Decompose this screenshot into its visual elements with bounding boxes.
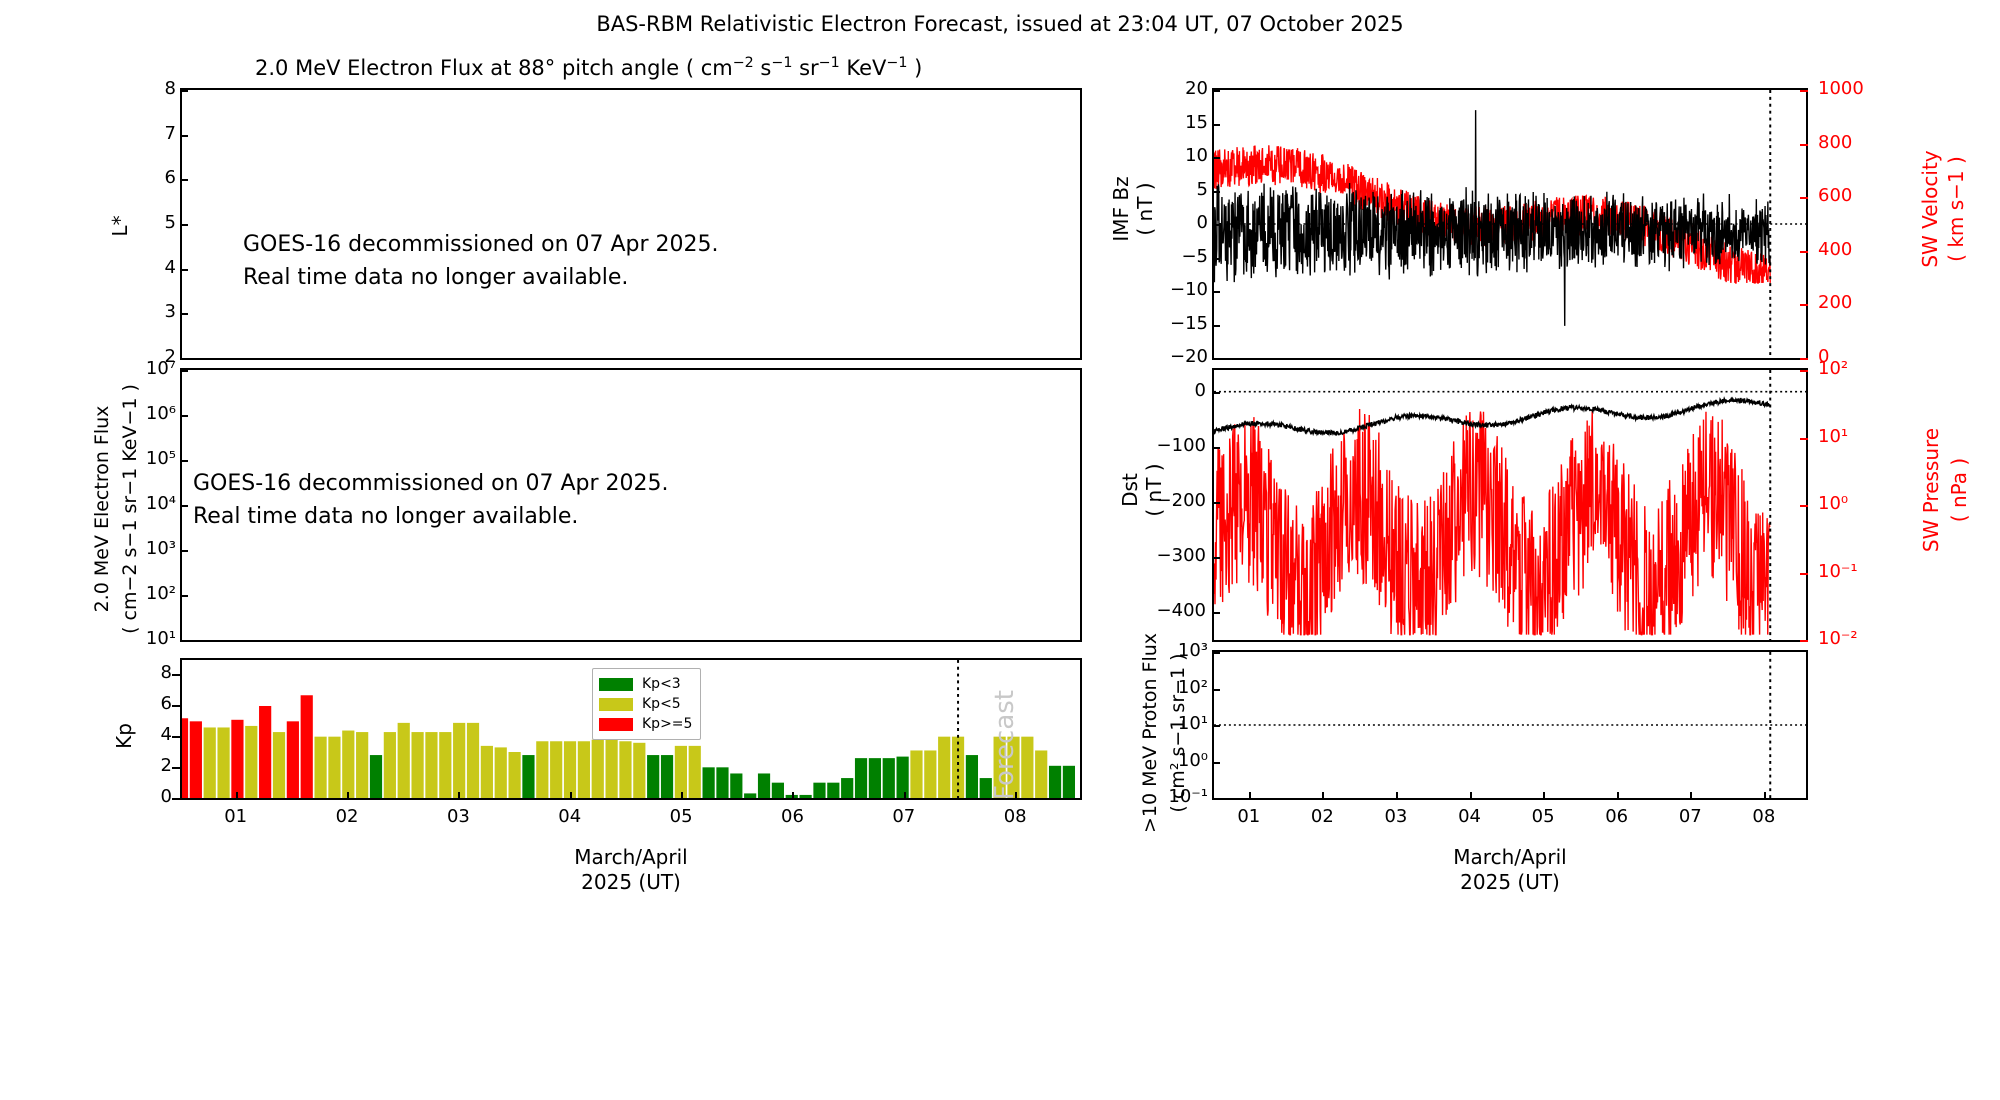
ytick-mark: [1212, 258, 1220, 260]
ytick-mark: [1800, 304, 1808, 306]
imf-bz-timeseries: [1214, 90, 1806, 358]
kp-bar: [606, 737, 618, 798]
kp-bar: [453, 723, 465, 798]
electron-flux-no-data-message: GOES-16 decommissioned on 07 Apr 2025. R…: [193, 467, 669, 533]
subtitle-unit-sr: sr: [792, 56, 818, 80]
xtick-label: 01: [1233, 806, 1265, 827]
ytick-label: 10¹: [1818, 426, 1848, 447]
ytick-label: 600: [1818, 185, 1852, 206]
xtick-label: 08: [999, 806, 1031, 827]
xtick-mark: [347, 792, 349, 800]
sw-pressure-trace: [1214, 409, 1770, 635]
ytick-label: −200: [1120, 490, 1206, 511]
xtick-mark: [1322, 792, 1324, 800]
legend-swatch-yellow: [599, 698, 633, 711]
kp-bar: [633, 743, 645, 798]
xtick-label: 01: [220, 806, 252, 827]
kp-bar: [730, 773, 742, 798]
lstar-no-data-message: GOES-16 decommissioned on 07 Apr 2025. R…: [243, 228, 719, 294]
xtick-label: 05: [1527, 806, 1559, 827]
kp-bar: [411, 732, 423, 798]
kp-bar: [1063, 766, 1075, 798]
kp-bar: [314, 737, 326, 798]
ytick-mark: [180, 640, 188, 642]
kp-bar: [689, 746, 701, 798]
xtick-mark: [1690, 792, 1692, 800]
ytick-mark: [1212, 124, 1220, 126]
xtick-label: 02: [1306, 806, 1338, 827]
panel-dst: [1212, 368, 1808, 642]
dst-trace: [1214, 398, 1770, 435]
ytick-mark: [1800, 197, 1808, 199]
ytick-mark: [1800, 370, 1808, 372]
ytick-label: 10²: [1818, 358, 1848, 379]
page-title: BAS-RBM Relativistic Electron Forecast, …: [0, 12, 2000, 36]
kp-bar: [508, 752, 520, 798]
ytick-mark: [1212, 90, 1220, 92]
kp-bar: [647, 755, 659, 798]
ytick-mark: [180, 90, 188, 92]
kp-bar: [744, 793, 756, 798]
kp-legend: Kp<3 Kp<5 Kp>=5: [592, 668, 701, 740]
ytick-label: 10⁶: [90, 403, 176, 424]
ytick-mark: [180, 460, 188, 462]
proton-xaxis-label: March/April 2025 (UT): [1310, 845, 1710, 895]
ytick-mark: [1212, 358, 1220, 360]
xtick-label: 07: [888, 806, 920, 827]
kp-bar: [772, 783, 784, 798]
ytick-mark: [1800, 358, 1808, 360]
ytick-label: 10¹: [90, 628, 176, 649]
ytick-label: 1000: [1818, 78, 1864, 99]
ytick-label: −5: [1122, 246, 1208, 267]
subtitle-text: 2.0 MeV Electron Flux at 88: [255, 56, 545, 80]
xtick-mark: [458, 792, 460, 800]
swv-axis-label-line1: SW Velocity: [1918, 150, 1942, 267]
kp-bar: [924, 750, 936, 798]
ytick-mark: [172, 798, 180, 800]
kp-bar: [966, 755, 978, 798]
swp-axis-label-line1: SW Pressure: [1919, 428, 1943, 552]
ytick-label: 10⁻²: [1818, 628, 1858, 649]
ytick-mark: [1212, 224, 1220, 226]
kp-bar: [716, 767, 728, 798]
ytick-label: 10³: [90, 538, 176, 559]
kp-bar: [952, 737, 964, 798]
kp-bar: [245, 726, 257, 798]
kp-bar: [938, 737, 950, 798]
kp-bar: [259, 706, 271, 798]
ytick-label: 3: [90, 301, 176, 322]
legend-label: Kp<3: [642, 676, 681, 692]
ytick-mark: [1800, 144, 1808, 146]
ytick-mark: [180, 224, 188, 226]
kp-bar: [703, 767, 715, 798]
ytick-mark: [172, 705, 180, 707]
dst-timeseries: [1214, 370, 1806, 640]
legend-item: Kp>=5: [599, 714, 692, 734]
xtick-mark: [792, 792, 794, 800]
kp-bar: [578, 741, 590, 798]
ytick-label: 800: [1818, 132, 1852, 153]
ytick-mark: [180, 370, 188, 372]
ytick-mark: [1800, 251, 1808, 253]
kp-bar: [564, 741, 576, 798]
kp-bar: [536, 741, 548, 798]
ytick-mark: [180, 505, 188, 507]
kp-bar: [467, 723, 479, 798]
xtick-mark: [681, 792, 683, 800]
xtick-label: 06: [1601, 806, 1633, 827]
kp-bar: [231, 720, 243, 798]
kp-bar: [841, 778, 853, 798]
degree-symbol: °: [545, 56, 556, 80]
ytick-mark: [1212, 447, 1220, 449]
ytick-label: −15: [1122, 313, 1208, 334]
kp-bar: [883, 758, 895, 798]
xtick-mark: [1396, 792, 1398, 800]
ytick-label: 10⁻¹: [1818, 561, 1858, 582]
ytick-mark: [1212, 157, 1220, 159]
kp-bar: [398, 723, 410, 798]
subtitle-unit-cm: pitch angle ( cm: [555, 56, 732, 80]
kp-bar: [522, 755, 534, 798]
kp-bar: [827, 783, 839, 798]
xtick-mark: [570, 792, 572, 800]
subtitle-exp-4: −1: [886, 55, 907, 71]
ytick-mark: [180, 415, 188, 417]
ytick-label: 0: [140, 786, 172, 807]
kp-bar: [273, 732, 285, 798]
panel-proton-flux: [1212, 650, 1808, 800]
ytick-label: −100: [1120, 435, 1206, 456]
subtitle-unit-kev: KeV: [840, 56, 887, 80]
panel-imf-bz: [1212, 88, 1808, 360]
subtitle-exp-3: −1: [819, 55, 840, 71]
xtick-mark: [1470, 792, 1472, 800]
ytick-mark: [172, 674, 180, 676]
electron-flux-subtitle: 2.0 MeV Electron Flux at 88° pitch angle…: [255, 56, 922, 80]
forecast-dashboard: BAS-RBM Relativistic Electron Forecast, …: [0, 0, 2000, 1100]
legend-label: Kp<5: [642, 696, 681, 712]
ytick-mark: [1212, 557, 1220, 559]
kp-bar: [897, 757, 909, 798]
kp-bar: [592, 740, 604, 798]
kp-xaxis-label: March/April 2025 (UT): [431, 845, 831, 895]
ytick-mark: [1212, 502, 1220, 504]
swv-axis-label-line2: ( km s−1 ): [1944, 156, 1968, 262]
kp-bar: [1049, 766, 1061, 798]
sw-pressure-axis-label: SW Pressure: [1919, 410, 1943, 570]
xtick-mark: [1617, 792, 1619, 800]
xtick-label: 04: [554, 806, 586, 827]
kp-bar: [342, 731, 354, 798]
kp-bar: [370, 755, 382, 798]
kp-bar: [356, 732, 368, 798]
legend-swatch-red: [599, 718, 633, 731]
subtitle-close-paren: ): [907, 56, 922, 80]
kp-bar: [204, 727, 216, 798]
kp-bar: [301, 695, 313, 798]
panel-lstar: [180, 88, 1082, 360]
ytick-label: 10⁻¹: [1122, 786, 1208, 807]
ytick-mark: [1212, 652, 1220, 654]
ytick-label: 5: [90, 212, 176, 233]
ytick-label: 400: [1818, 239, 1852, 260]
subtitle-exp-1: −2: [733, 55, 754, 71]
xtick-mark: [1249, 792, 1251, 800]
ytick-label: 4: [140, 724, 172, 745]
ytick-mark: [1212, 762, 1220, 764]
ytick-label: 8: [90, 78, 176, 99]
swp-axis-label-line2: ( nPa ): [1947, 458, 1971, 522]
xtick-mark: [1764, 792, 1766, 800]
ytick-mark: [1800, 505, 1808, 507]
ytick-label: 10²: [1122, 677, 1208, 698]
ytick-label: 10⁴: [90, 493, 176, 514]
kp-bar: [855, 758, 867, 798]
ytick-mark: [180, 595, 188, 597]
xtick-mark: [1543, 792, 1545, 800]
sw-velocity-axis-label: SW Velocity: [1918, 134, 1942, 284]
ytick-label: 2: [140, 755, 172, 776]
ytick-label: 10⁷: [90, 358, 176, 379]
kp-bar: [910, 750, 922, 798]
ytick-mark: [180, 358, 188, 360]
ytick-label: 10³: [1122, 640, 1208, 661]
ytick-mark: [1212, 798, 1220, 800]
kp-bar: [661, 755, 673, 798]
kp-bar: [1021, 737, 1033, 798]
ytick-mark: [180, 550, 188, 552]
legend-item: Kp<3: [599, 674, 692, 694]
ytick-label: 10¹: [1122, 713, 1208, 734]
xtick-label: 02: [331, 806, 363, 827]
ytick-label: 0: [1122, 212, 1208, 233]
ytick-label: 10⁵: [90, 448, 176, 469]
ytick-label: −10: [1122, 279, 1208, 300]
kp-bar: [217, 727, 229, 798]
ytick-mark: [180, 179, 188, 181]
ytick-label: 7: [90, 123, 176, 144]
ytick-label: 10⁰: [1818, 493, 1848, 514]
ytick-label: 5: [1122, 179, 1208, 200]
ytick-mark: [1800, 573, 1808, 575]
ytick-mark: [1212, 325, 1220, 327]
kp-bar: [869, 758, 881, 798]
ytick-mark: [172, 767, 180, 769]
legend-label: Kp>=5: [642, 716, 692, 732]
ytick-label: 6: [140, 693, 172, 714]
ytick-mark: [1212, 191, 1220, 193]
ytick-label: −20: [1122, 346, 1208, 367]
ytick-mark: [180, 269, 188, 271]
ytick-label: 10⁰: [1122, 750, 1208, 771]
ytick-label: 20: [1122, 78, 1208, 99]
ytick-mark: [1800, 90, 1808, 92]
kp-bar: [758, 773, 770, 798]
kp-bar: [550, 741, 562, 798]
ytick-label: −400: [1120, 600, 1206, 621]
xtick-label: 07: [1674, 806, 1706, 827]
legend-item: Kp<5: [599, 694, 692, 714]
xtick-label: 05: [665, 806, 697, 827]
ytick-mark: [180, 135, 188, 137]
xtick-label: 03: [1380, 806, 1412, 827]
kp-bar: [190, 721, 202, 798]
kp-bar: [328, 737, 340, 798]
ytick-label: 10²: [90, 583, 176, 604]
subtitle-unit-s: s: [754, 56, 772, 80]
proton-flux-chart: [1214, 652, 1806, 798]
kp-bar: [1035, 750, 1047, 798]
kp-bar: [439, 732, 451, 798]
kp-bar: [619, 741, 631, 798]
kp-bar: [675, 746, 687, 798]
ytick-label: 0: [1120, 380, 1206, 401]
xtick-label: 06: [776, 806, 808, 827]
xtick-label: 04: [1454, 806, 1486, 827]
legend-swatch-green: [599, 678, 633, 691]
kp-bar: [495, 747, 507, 798]
kp-bar: [813, 783, 825, 798]
ytick-label: 4: [90, 257, 176, 278]
ytick-mark: [180, 313, 188, 315]
ytick-mark: [1212, 689, 1220, 691]
kp-bar: [287, 721, 299, 798]
ytick-mark: [1800, 640, 1808, 642]
ytick-mark: [172, 736, 180, 738]
xtick-label: 03: [442, 806, 474, 827]
kp-axis-label: Kp: [112, 716, 136, 756]
ytick-label: 10: [1122, 145, 1208, 166]
ytick-label: 6: [90, 167, 176, 188]
xtick-mark: [904, 792, 906, 800]
ytick-mark: [1800, 438, 1808, 440]
xtick-label: 08: [1748, 806, 1780, 827]
ytick-label: 200: [1818, 292, 1852, 313]
ytick-mark: [1212, 612, 1220, 614]
sw-velocity-axis-units: ( km s−1 ): [1944, 134, 1968, 284]
ytick-label: 15: [1122, 112, 1208, 133]
kp-forecast-watermark: Forecast: [990, 685, 1020, 805]
ytick-label: 8: [140, 662, 172, 683]
kp-bar: [384, 732, 396, 798]
xtick-mark: [236, 792, 238, 800]
ytick-mark: [1212, 291, 1220, 293]
kp-bar: [425, 732, 437, 798]
ytick-mark: [1212, 725, 1220, 727]
kp-bar: [182, 718, 188, 798]
sw-pressure-axis-units: ( nPa ): [1947, 410, 1971, 570]
ytick-label: −300: [1120, 545, 1206, 566]
subtitle-exp-2: −1: [771, 55, 792, 71]
ytick-mark: [1212, 392, 1220, 394]
kp-bar: [800, 795, 812, 798]
kp-bar: [481, 746, 493, 798]
